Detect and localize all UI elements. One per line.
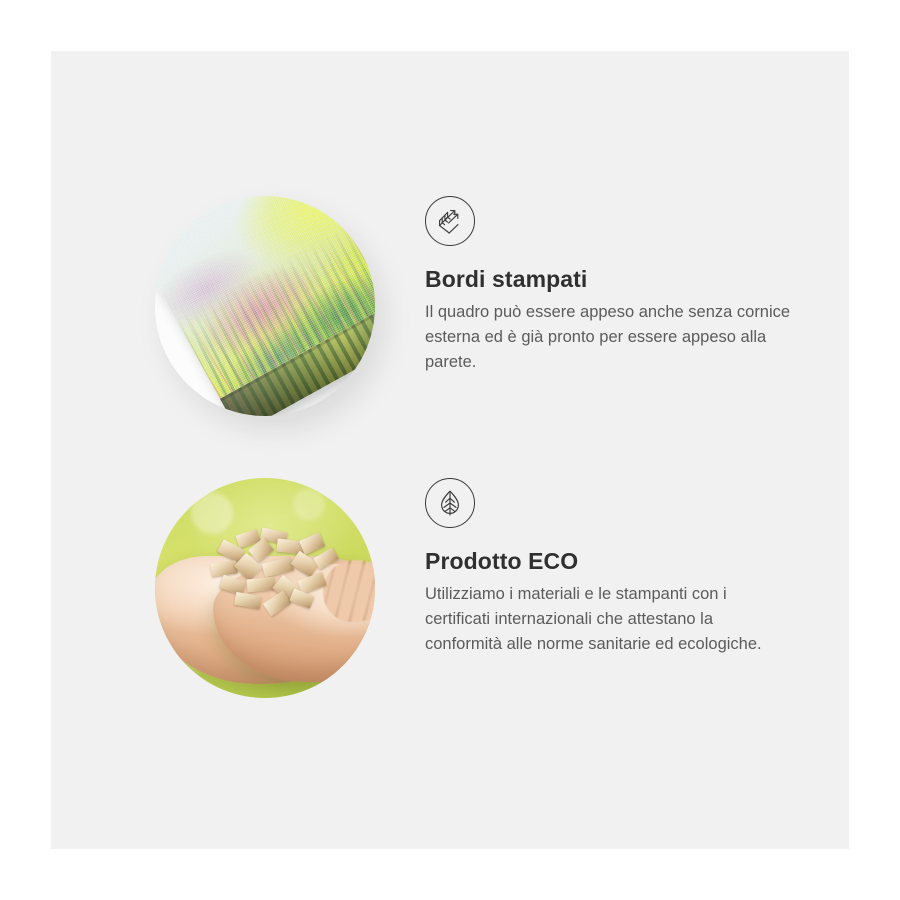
feature-copy-printed-edges: Bordi stampati Il quadro può essere appe… xyxy=(425,196,801,375)
wood-chip xyxy=(262,557,294,578)
canvas-photo-background xyxy=(155,196,375,416)
hands-holding-wood-chips-photo xyxy=(155,478,375,698)
wood-chip xyxy=(313,547,339,569)
wood-chip-pile xyxy=(207,530,343,618)
feature-description: Utilizziamo i materiali e le stampanti c… xyxy=(425,582,793,657)
wood-chip xyxy=(234,592,262,609)
leaf-icon xyxy=(425,478,475,528)
feature-title: Prodotto ECO xyxy=(425,548,801,575)
printed-canvas-corner-photo xyxy=(155,196,375,416)
wood-chip xyxy=(246,577,275,593)
content-panel: Bordi stampati Il quadro può essere appe… xyxy=(51,51,849,849)
eco-photo-background xyxy=(155,478,375,698)
wood-chip xyxy=(299,532,325,555)
feature-title: Bordi stampati xyxy=(425,266,801,293)
page-root: Bordi stampati Il quadro può essere appe… xyxy=(0,0,900,900)
feature-description: Il quadro può essere appeso anche senza … xyxy=(425,300,793,375)
canvas-edge-icon xyxy=(425,196,475,246)
feature-copy-eco-product: Prodotto ECO Utilizziamo i materiali e l… xyxy=(425,478,801,657)
canvas-tile xyxy=(155,196,375,416)
wood-chip xyxy=(289,588,314,608)
